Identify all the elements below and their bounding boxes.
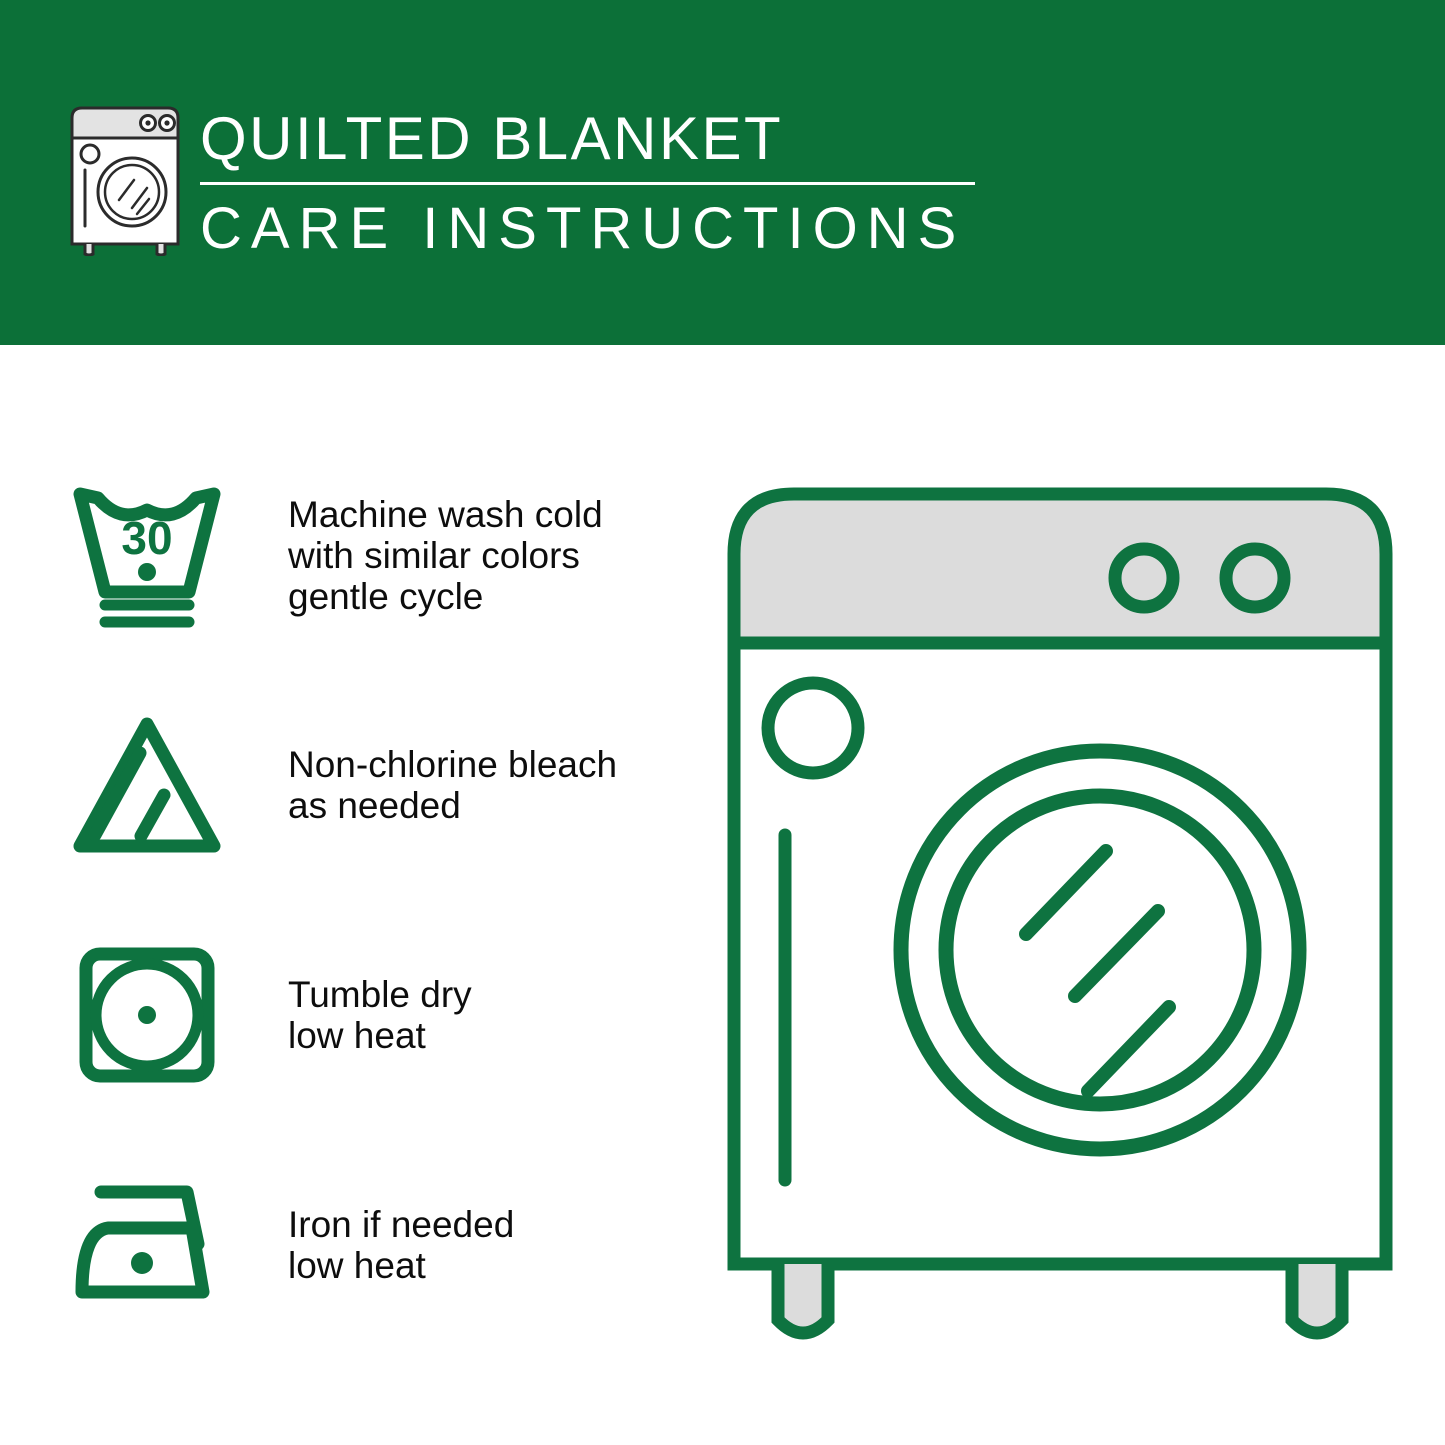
header-banner: QUILTED BLANKET CARE INSTRUCTIONS	[0, 0, 1445, 345]
care-text-iron: Iron if needed low heat	[288, 1160, 688, 1330]
door-inner-ring	[946, 796, 1254, 1104]
care-instructions-list: 30 Machine wash cold with similar colors…	[0, 470, 700, 1390]
care-line: low heat	[288, 1245, 688, 1286]
care-instructions-page: QUILTED BLANKET CARE INSTRUCTIONS 30	[0, 0, 1445, 1445]
header-text-block: QUILTED BLANKET CARE INSTRUCTIONS	[200, 104, 990, 263]
care-line: Machine wash cold	[288, 494, 688, 535]
front-load-washing-machine-illustration	[720, 480, 1400, 1360]
page-subtitle: CARE INSTRUCTIONS	[200, 195, 990, 263]
title-divider	[200, 182, 975, 185]
care-row-bleach: Non-chlorine bleach as needed	[0, 700, 700, 930]
care-row-iron: Iron if needed low heat	[0, 1160, 700, 1390]
care-text-tumble-dry: Tumble dry low heat	[288, 930, 688, 1100]
care-line: with similar colors	[288, 535, 688, 576]
detergent-dispenser	[768, 683, 858, 773]
knob-left	[1115, 549, 1173, 607]
tumble-dry-low-icon	[68, 930, 238, 1100]
care-row-machine-wash: 30 Machine wash cold with similar colors…	[0, 470, 700, 700]
care-row-tumble-dry: Tumble dry low heat	[0, 930, 700, 1160]
leg-right	[1292, 1264, 1342, 1333]
knob-right	[1226, 549, 1284, 607]
leg-left	[778, 1264, 828, 1333]
care-line: as needed	[288, 785, 688, 826]
non-chlorine-bleach-triangle-icon	[68, 700, 238, 870]
care-text-bleach: Non-chlorine bleach as needed	[288, 700, 688, 870]
page-title: QUILTED BLANKET	[200, 104, 990, 174]
wash-tub-30-gentle-icon: 30	[68, 470, 238, 640]
iron-low-heat-icon	[68, 1160, 238, 1330]
care-line: low heat	[288, 1015, 688, 1056]
care-line: Tumble dry	[288, 974, 688, 1015]
wash-temperature-label: 30	[121, 512, 172, 564]
care-line: gentle cycle	[288, 576, 688, 617]
care-line: Non-chlorine bleach	[288, 744, 688, 785]
care-line: Iron if needed	[288, 1204, 688, 1245]
care-text-machine-wash: Machine wash cold with similar colors ge…	[288, 470, 688, 640]
washing-machine-icon	[66, 104, 184, 256]
